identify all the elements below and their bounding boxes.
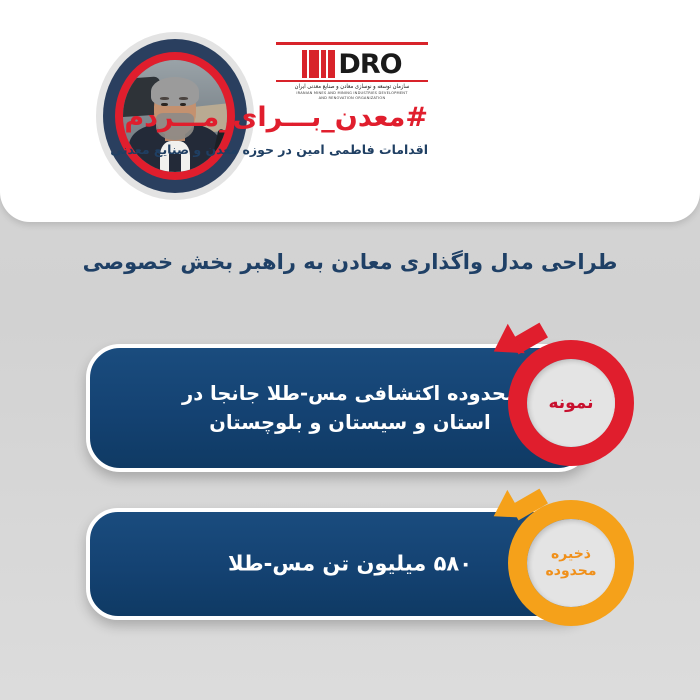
photo-eyebrow-left [160, 97, 169, 100]
circular-arrow-badge-sample: نمونه [508, 340, 634, 466]
logo-bar-4 [328, 50, 335, 78]
logo-english-line2: AND RENOVATION ORGANIZATION [276, 96, 428, 100]
info-card-2-text: ۵۸۰ میلیون تن مس-طلا [150, 548, 550, 580]
circular-arrow-badge-reserve: ذخیره محدوده [508, 500, 634, 626]
logo-top-rule [276, 42, 428, 45]
badge-inner-1: نمونه [527, 359, 615, 447]
campaign-hashtag: #معدن_بـــرای_مـــردم [264, 104, 428, 132]
logo-persian-name: سازمان توسعه و نوسازی معادن و صنایع معدن… [276, 84, 428, 91]
info-card-1-text: محدوده اکتشافی مس-طلا جانجا در استان و س… [150, 379, 550, 438]
info-card-2: ۵۸۰ میلیون تن مس-طلا ذخیره محدوده [0, 500, 700, 640]
badge-inner-2: ذخیره محدوده [527, 519, 615, 607]
badge-label-1: نمونه [548, 393, 593, 414]
imidro-logo: DRO سازمان توسعه و نوسازی معادن و صنایع … [276, 42, 428, 100]
page-title: طراحی مدل واگذاری معادن به راهبر بخش خصو… [0, 250, 700, 274]
logo-bar-3 [321, 50, 326, 78]
logo-bottom-rule [276, 80, 428, 82]
logo-bar-1 [302, 50, 307, 78]
info-card-1: محدوده اکتشافی مس-طلا جانجا در استان و س… [0, 336, 700, 486]
header-subtitle: اقدامات فاطمی امین در حوزه معدن و صنایع … [228, 142, 428, 157]
logo-bar-2 [309, 50, 319, 78]
logo-english-line1: IRANIAN MINES AND MINING INDUSTRIES DEVE… [276, 91, 428, 95]
logo-text-dro: DRO [338, 51, 401, 78]
photo-eyebrow-right [179, 97, 188, 100]
badge-label-2: ذخیره محدوده [527, 546, 615, 580]
header-card: DRO سازمان توسعه و نوسازی معادن و صنایع … [0, 0, 700, 222]
logo-wordmark: DRO [276, 48, 428, 78]
